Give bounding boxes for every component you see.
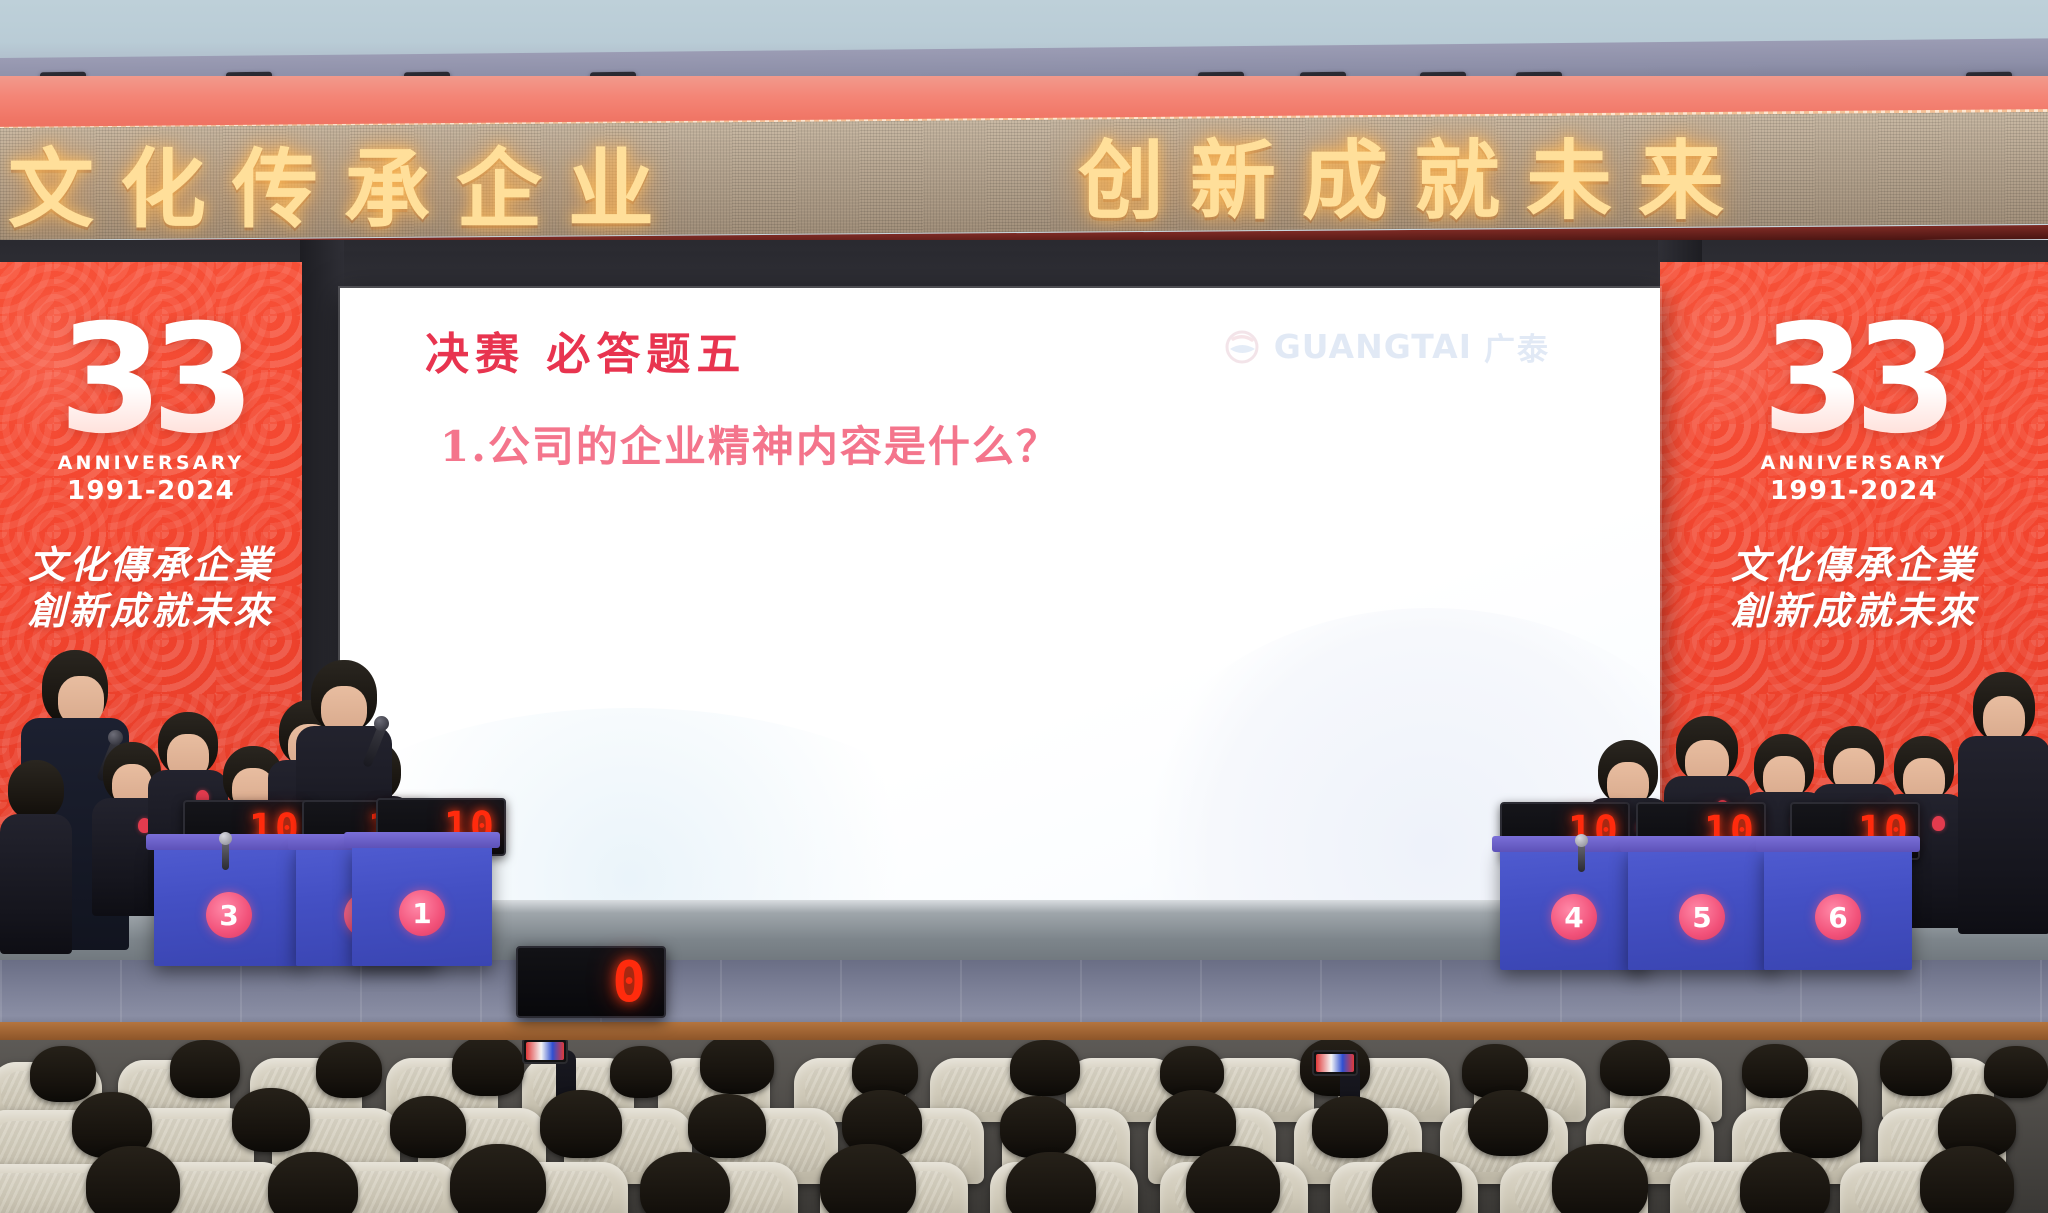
audience-member-head <box>316 1042 382 1098</box>
audience-member-head <box>1624 1096 1700 1158</box>
audience-member-head <box>390 1096 466 1158</box>
smartphone-icon <box>522 1040 568 1064</box>
audience-member-head <box>86 1146 180 1213</box>
audience-member-head <box>1984 1046 2048 1098</box>
calligraphy-right: 文化傳承企業 創新成就未來 <box>1660 542 2048 635</box>
podium-number-badge: 4 <box>1551 894 1597 940</box>
swirl-logo-icon <box>1222 327 1262 367</box>
slide-title: 决赛 必答题五 <box>425 318 746 382</box>
audience-member-head <box>1780 1090 1862 1158</box>
audience-member-head <box>820 1144 916 1213</box>
audience-member-head <box>1740 1152 1830 1213</box>
anniversary-emblem-right: 33 ANNIVERSARY 1991-2024 <box>1660 314 2048 506</box>
person-body <box>1958 736 2048 934</box>
calligraphy-left: 文化傳承企業 創新成就未來 <box>0 542 302 635</box>
slide-question: 1.公司的企业精神内容是什么？ <box>440 413 1060 474</box>
audience-member-head <box>450 1144 546 1213</box>
anniversary-number: 33 <box>0 314 302 446</box>
badge-icon <box>1932 816 1945 831</box>
audience-member-head <box>1880 1040 1952 1096</box>
podium-top-edge <box>344 832 500 848</box>
company-logo: GUANGTAI 广泰 <box>1222 324 1550 369</box>
audience-member-head <box>610 1046 672 1098</box>
logo-wordmark: GUANGTAI <box>1274 327 1472 366</box>
podium-1: 1 <box>352 846 492 966</box>
person-body <box>0 814 72 954</box>
audience-member-head <box>1600 1040 1670 1096</box>
podium-3: 3 <box>154 848 304 966</box>
calligraphy-line-2: 創新成就未來 <box>1660 588 2048 634</box>
audience-member-head <box>452 1040 524 1096</box>
staff-member-right <box>1958 672 2048 932</box>
podium-number-badge: 1 <box>399 890 445 936</box>
audience-member-head <box>1006 1152 1096 1213</box>
phone-screen <box>526 1042 564 1060</box>
led-banner-text-left: 文化传承企业 <box>8 119 680 240</box>
timer-value: 0 <box>612 950 646 1015</box>
contestant <box>0 760 72 950</box>
audience-member-head <box>688 1094 766 1158</box>
led-banner-text-right: 创新成就未来 <box>1078 112 1750 235</box>
projection-slide: 决赛 必答题五 1.公司的企业精神内容是什么？ GUANGTAI 广泰 <box>340 288 1660 908</box>
audience-member-head <box>1010 1040 1080 1096</box>
audience-member-head <box>700 1040 774 1094</box>
smartphone-icon <box>1312 1050 1358 1076</box>
audience-member-head <box>1552 1144 1648 1213</box>
podium-5: 5 <box>1628 850 1776 970</box>
anniversary-number: 33 <box>1660 314 2048 446</box>
person-head <box>8 760 64 820</box>
anniversary-years: 1991-2024 <box>1660 476 2048 506</box>
podium-number-badge: 3 <box>206 892 252 938</box>
led-header-banner: 文化传承企业 创新成就未来 <box>0 112 2048 240</box>
podium-top-edge <box>1756 836 1920 852</box>
audience-member-head <box>170 1040 240 1098</box>
audience-member-head <box>232 1088 310 1152</box>
countdown-timer: 0 <box>516 946 666 1018</box>
audience-member-head <box>30 1046 96 1102</box>
audience-member-head <box>1742 1044 1808 1098</box>
logo-chinese-name: 广泰 <box>1484 324 1550 369</box>
phone-screen <box>1316 1054 1354 1072</box>
podium-number-badge: 6 <box>1815 894 1861 940</box>
audience-area <box>0 1040 2048 1213</box>
desk-microphone-head-icon <box>219 832 232 845</box>
audience-member-head <box>268 1152 358 1213</box>
anniversary-years: 1991-2024 <box>0 476 302 506</box>
anniversary-emblem-left: 33 ANNIVERSARY 1991-2024 <box>0 314 302 506</box>
audience-member-head <box>640 1152 730 1213</box>
audience-member-head <box>1186 1146 1280 1213</box>
audience-member-head <box>1312 1096 1388 1158</box>
calligraphy-line-1: 文化傳承企業 <box>1660 542 2048 588</box>
microphone-head-icon <box>374 716 389 731</box>
podium-6: 6 <box>1764 850 1912 970</box>
calligraphy-line-1: 文化傳承企業 <box>0 542 302 588</box>
audience-member-head <box>1468 1090 1548 1156</box>
audience-member-head <box>1372 1152 1462 1213</box>
podium-number-badge: 5 <box>1679 894 1725 940</box>
calligraphy-line-2: 創新成就未來 <box>0 588 302 634</box>
audience-member-head <box>1000 1096 1076 1158</box>
auditorium-stage-photo: 文化传承企业 创新成就未来 33 ANNIVERSARY 1991-2024 文… <box>0 0 2048 1213</box>
podium-4: 4 <box>1500 850 1648 970</box>
desk-microphone-head-icon <box>1575 834 1588 847</box>
audience-member-head <box>1920 1146 2014 1213</box>
audience-member-head <box>540 1090 622 1158</box>
